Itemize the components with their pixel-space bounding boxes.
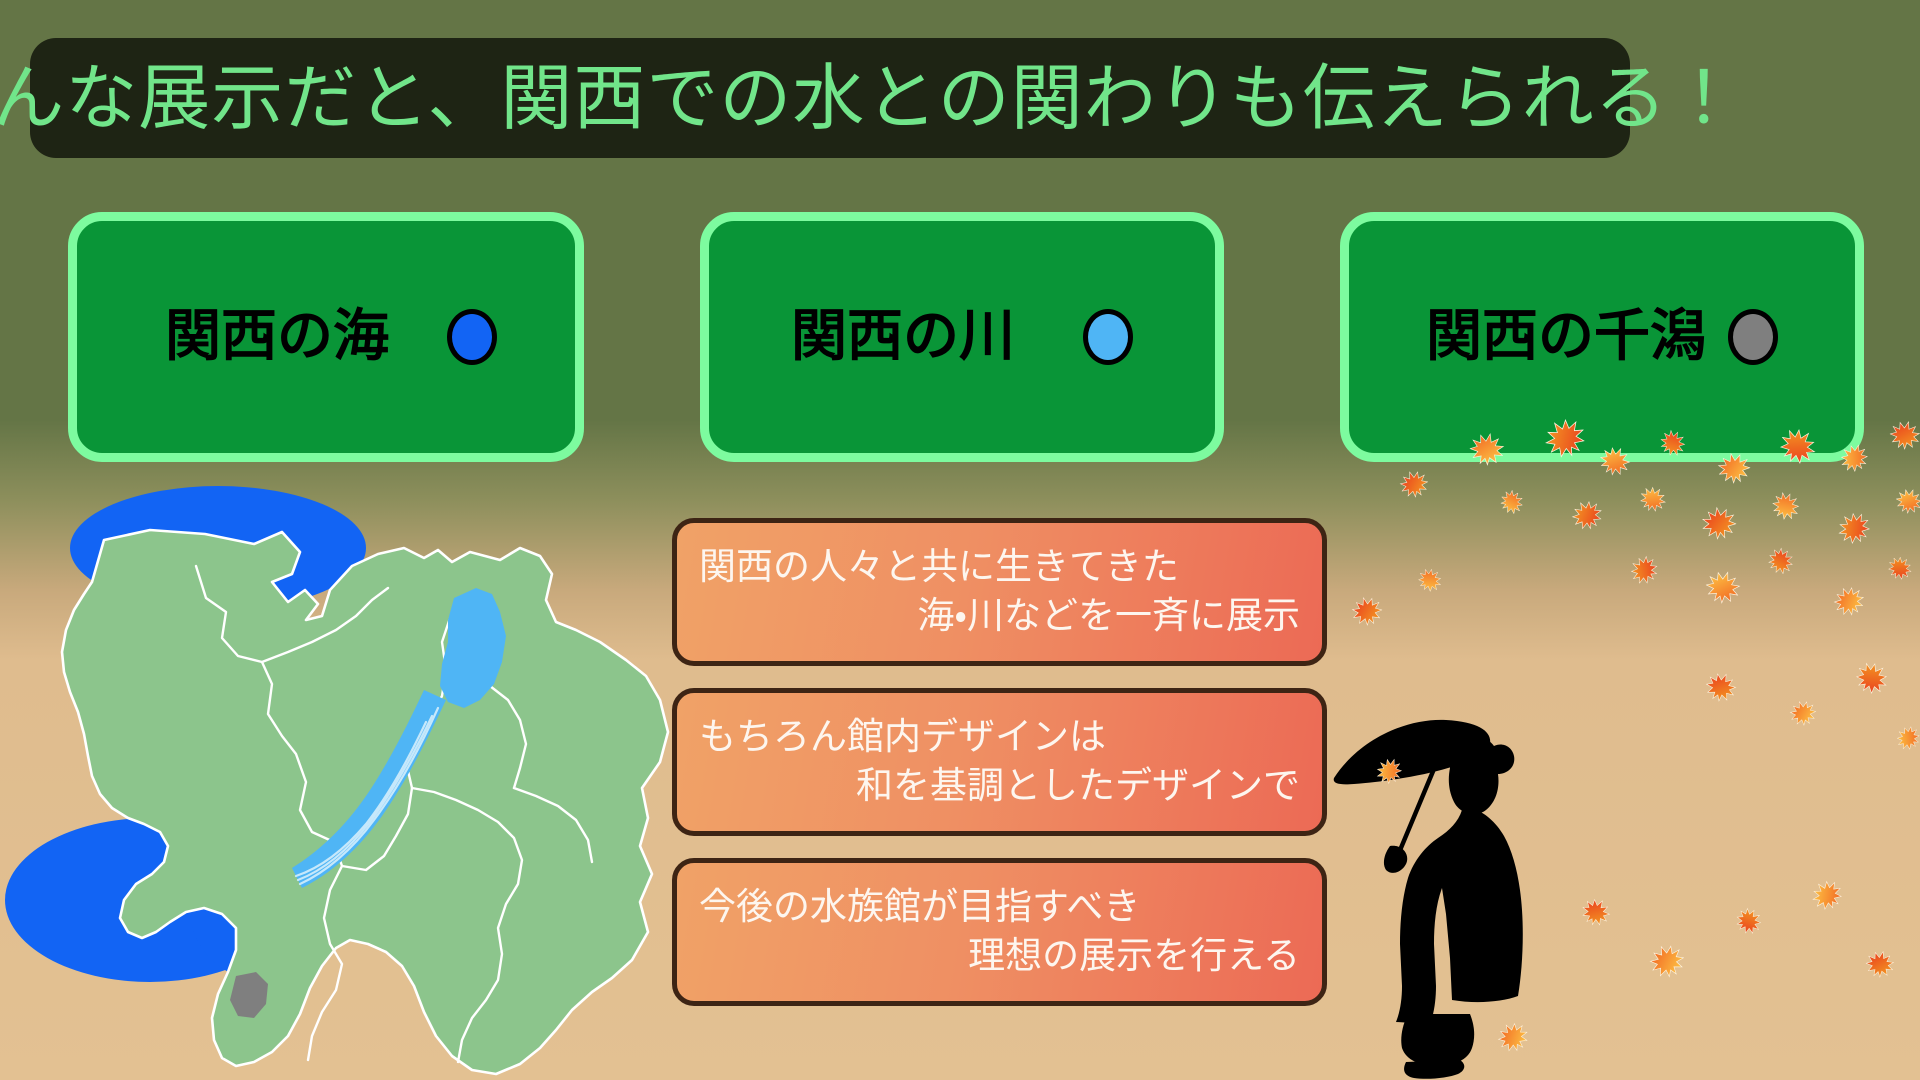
maple-leaf-icon bbox=[1567, 495, 1608, 536]
category-label-river: 関西の川 bbox=[791, 309, 1015, 365]
maple-leaf-icon bbox=[1849, 655, 1894, 700]
tidal-flat-marker-dot bbox=[1728, 309, 1778, 365]
maple-leaf-icon bbox=[1891, 721, 1920, 754]
maple-leaf-icon bbox=[1806, 874, 1848, 916]
river-marker-dot bbox=[1083, 309, 1133, 365]
figure-hem bbox=[1401, 1014, 1474, 1066]
maple-leaf-icon bbox=[1767, 487, 1806, 526]
statement-line-2: 海・川などを一斉に展示 bbox=[699, 592, 1300, 641]
maple-leaf-icon bbox=[1700, 504, 1738, 542]
figure-feet bbox=[1404, 1060, 1464, 1079]
maple-leaf-icon bbox=[1892, 484, 1920, 517]
maple-leaf-icon bbox=[1731, 903, 1766, 938]
maple-leaf-icon bbox=[1831, 505, 1876, 550]
maple-leaf-icon bbox=[1764, 544, 1797, 577]
figure-body bbox=[1396, 808, 1523, 1024]
statement-box-design: もちろん館内デザインは 和を基調としたデザインで bbox=[672, 688, 1327, 836]
maple-leaf-icon bbox=[1625, 551, 1663, 589]
category-button-sea[interactable]: 関西の海 bbox=[68, 212, 584, 462]
maple-leaf-icon bbox=[1829, 581, 1869, 621]
maple-leaf-icon bbox=[1883, 551, 1917, 585]
statement-line-2: 理想の展示を行える bbox=[699, 932, 1300, 981]
slide-canvas: こんな展示だと、関西での水との関わりも伝えられる！ 関西の海 関西の川 関西の千… bbox=[0, 0, 1920, 1080]
maple-leaf-icon bbox=[1497, 487, 1528, 518]
statement-box-ideal: 今後の水族館が目指すべき 理想の展示を行える bbox=[672, 858, 1327, 1006]
category-button-river[interactable]: 関西の川 bbox=[700, 212, 1224, 462]
maple-leaf-icon bbox=[1887, 417, 1920, 454]
statement-line-2: 和を基調としたデザインで bbox=[699, 762, 1300, 811]
maple-leaf-icon bbox=[1863, 947, 1897, 981]
category-label-sea: 関西の海 bbox=[165, 309, 389, 365]
sea-marker-dot bbox=[447, 309, 497, 365]
maple-leaf-icon bbox=[1645, 939, 1689, 983]
statement-line-1: もちろん館内デザインは bbox=[699, 713, 1300, 762]
statement-box-exhibit: 関西の人々と共に生きてきた 海・川などを一斉に展示 bbox=[672, 518, 1327, 666]
maple-leaf-icon bbox=[1413, 563, 1447, 597]
category-label-tidal-flat: 関西の千潟 bbox=[1426, 309, 1706, 365]
figure-hand bbox=[1384, 846, 1407, 873]
maple-leaf-icon bbox=[1701, 667, 1740, 706]
page-title: こんな展示だと、関西での水との関わりも伝えられる！ bbox=[0, 62, 1741, 134]
figure-head bbox=[1449, 737, 1515, 814]
statement-line-1: 関西の人々と共に生きてきた bbox=[699, 543, 1300, 592]
statement-line-1: 今後の水族館が目指すべき bbox=[699, 883, 1300, 932]
kansai-region-map bbox=[0, 470, 680, 1080]
maple-leaf-icon bbox=[1702, 566, 1745, 609]
maple-leaf-icon bbox=[1787, 697, 1820, 730]
maple-leaf-icon bbox=[1349, 593, 1386, 630]
category-button-tidal-flat[interactable]: 関西の千潟 bbox=[1340, 212, 1864, 462]
maple-leaf-icon bbox=[1635, 481, 1671, 517]
title-bar: こんな展示だと、関西での水との関わりも伝えられる！ bbox=[30, 38, 1630, 158]
maple-leaf-icon bbox=[1396, 466, 1432, 502]
kimono-woman-with-umbrella-silhouette bbox=[1330, 718, 1630, 1080]
